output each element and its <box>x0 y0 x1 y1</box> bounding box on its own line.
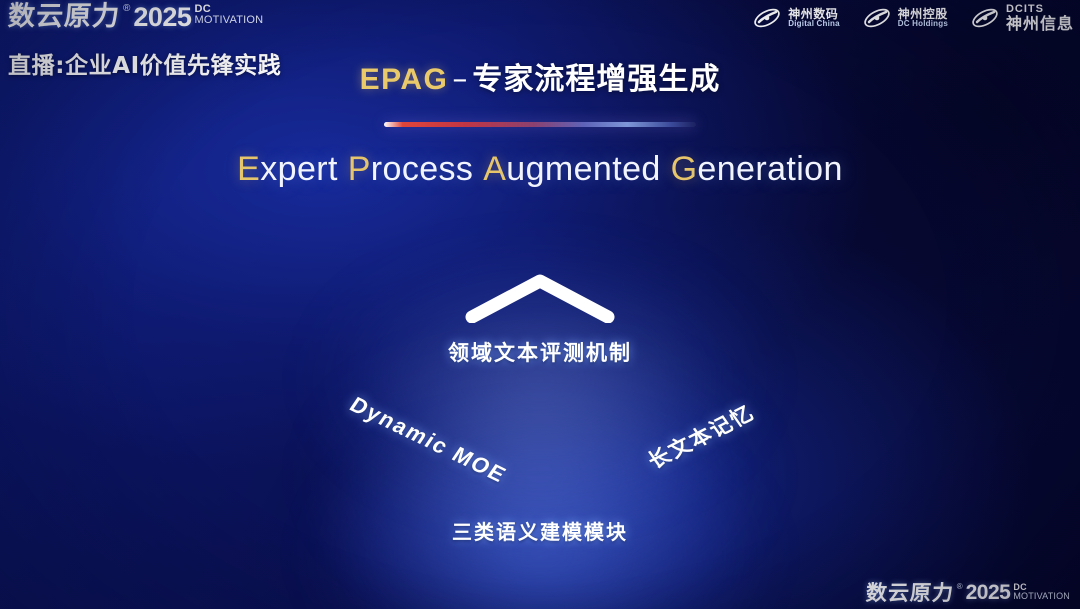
watermark-registered: ® <box>957 581 963 592</box>
brand-name-en: Digital China <box>788 20 840 28</box>
brand-digital-china: 神州数码 Digital China <box>752 5 840 31</box>
slide-canvas: 数云原力 ® 2025 DC MOTIVATION 直播:企业AI价值先锋实践 … <box>0 0 1080 609</box>
layer-stack-diagram: 领域文本评测机制 Dynamic MOE 长文本记忆 三类语义建模模块 <box>280 233 800 573</box>
title-chinese: 专家流程增强生成 <box>472 62 720 97</box>
brand-name-en: DC Holdings <box>898 20 948 28</box>
subtitle-word-expert: Expert <box>237 150 338 188</box>
brand-text: 神州数码 Digital China <box>788 8 840 29</box>
event-logo-cn: 数云原力 <box>7 2 121 32</box>
subtitle-word-process: Process <box>348 150 474 188</box>
title-divider <box>384 122 696 127</box>
layer-top-label: 领域文本评测机制 <box>448 337 632 367</box>
watermark-year: 2025 <box>966 581 1011 605</box>
title-acronym: EPAG <box>360 63 449 96</box>
watermark-cn: 数云原力 <box>865 581 955 605</box>
layer-top-surface <box>416 93 663 340</box>
swoosh-icon <box>862 5 892 31</box>
subtitle-word-generation: Generation <box>671 150 843 188</box>
event-logo-motivation: MOTIVATION <box>194 15 263 26</box>
layer-top[interactable] <box>365 217 715 567</box>
watermark-sub: DC MOTIVATION <box>1013 583 1070 601</box>
brand-text: 神州控股 DC Holdings <box>898 8 948 29</box>
registered-mark: ® <box>123 2 130 16</box>
subtitle-word-augmented: Augmented <box>483 150 661 188</box>
brand-text: DCITS 神州信息 <box>1006 4 1074 33</box>
swoosh-icon <box>970 5 1000 31</box>
brand-name-cn: 神州信息 <box>1006 16 1074 33</box>
footer-watermark-logo: 数云原力 ® 2025 DC MOTIVATION <box>866 581 1070 605</box>
event-logo-sub: DC MOTIVATION <box>194 4 263 26</box>
title-dash: – <box>448 62 472 97</box>
watermark-motivation: MOTIVATION <box>1013 592 1070 601</box>
event-logo: 数云原力 ® 2025 DC MOTIVATION <box>8 2 263 32</box>
event-logo-year: 2025 <box>133 2 191 32</box>
slide-title: EPAG–专家流程增强生成 <box>0 54 1080 98</box>
brand-dc-holdings: 神州控股 DC Holdings <box>862 5 948 31</box>
layer-bottom-label: 三类语义建模模块 <box>452 516 628 545</box>
slide-subtitle: Expert Process Augmented Generation <box>0 150 1080 189</box>
brand-logo-row: 神州数码 Digital China 神州控股 DC Holdings <box>752 4 1074 33</box>
swoosh-icon <box>752 5 782 31</box>
brand-dcits: DCITS 神州信息 <box>970 4 1074 33</box>
